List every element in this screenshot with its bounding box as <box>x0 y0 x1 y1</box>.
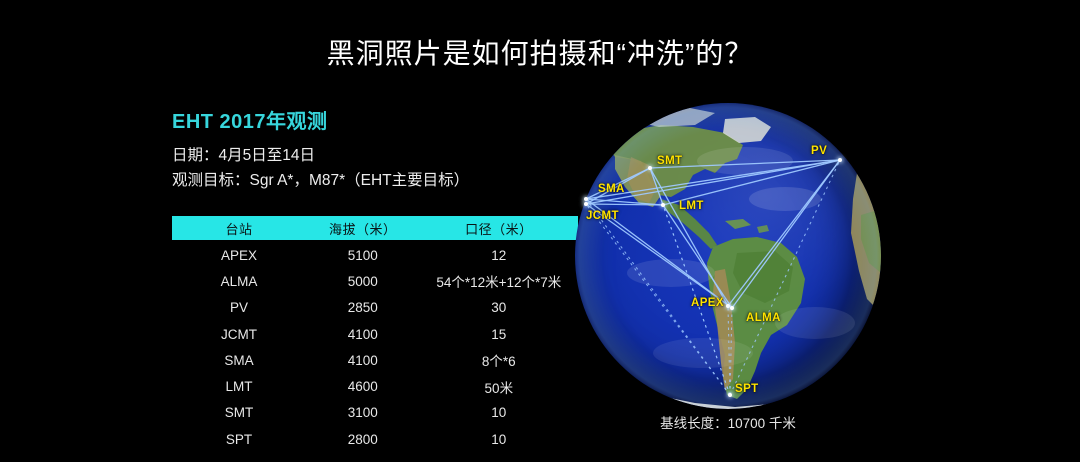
table-row: PV285030 <box>172 295 578 321</box>
station-cell: LMT <box>172 373 306 399</box>
station-marker-alma <box>730 306 734 310</box>
station-marker-smt <box>648 166 652 170</box>
station-cell: PV <box>172 295 306 321</box>
observation-info-block: EHT 2017年观测 日期：4月5日至14日 观测目标：Sgr A*，M87*… <box>172 105 602 193</box>
diameter-cell: 50米 <box>420 373 578 399</box>
station-cell: ALMA <box>172 268 306 294</box>
altitude-cell: 4100 <box>306 347 420 373</box>
altitude-cell: 4600 <box>306 373 420 399</box>
altitude-cell: 5100 <box>306 240 420 268</box>
table-row: APEX510012 <box>172 240 578 268</box>
observation-target-line: 观测目标：Sgr A*，M87*（EHT主要目标） <box>172 168 602 193</box>
globe-continents <box>575 103 881 409</box>
station-cell: SPT <box>172 426 306 452</box>
diameter-cell: 54个*12米+12个*7米 <box>420 268 578 294</box>
table-row: SPT280010 <box>172 426 578 452</box>
altitude-cell: 2850 <box>306 295 420 321</box>
column-header-diameter: 口径（米） <box>420 216 578 240</box>
station-marker-sma <box>584 197 588 201</box>
altitude-cell: 4100 <box>306 321 420 347</box>
column-header-station: 台站 <box>172 216 306 240</box>
page-title: 黑洞照片是如何拍摄和“冲洗”的？ <box>0 32 1080 72</box>
diameter-cell: 10 <box>420 426 578 452</box>
eht-heading: EHT 2017年观测 <box>172 105 602 134</box>
station-marker-spt <box>728 393 732 397</box>
table-row: ALMA500054个*12米+12个*7米 <box>172 268 578 294</box>
station-cell: SMA <box>172 347 306 373</box>
table-row: SMA41008个*6 <box>172 347 578 373</box>
earth-globe-icon <box>575 103 881 409</box>
station-marker-lmt <box>661 203 665 207</box>
table-row: JCMT410015 <box>172 321 578 347</box>
diameter-cell: 8个*6 <box>420 347 578 373</box>
station-cell: JCMT <box>172 321 306 347</box>
altitude-cell: 5000 <box>306 268 420 294</box>
diameter-cell: 12 <box>420 240 578 268</box>
diameter-cell: 10 <box>420 400 578 426</box>
observation-date-line: 日期：4月5日至14日 <box>172 143 602 168</box>
station-marker-jcmt <box>584 202 588 206</box>
table-row: LMT460050米 <box>172 373 578 399</box>
diameter-cell: 30 <box>420 295 578 321</box>
station-cell: APEX <box>172 240 306 268</box>
altitude-cell: 3100 <box>306 400 420 426</box>
table-header-row: 台站 海拔（米） 口径（米） <box>172 216 578 240</box>
station-marker-pv <box>838 158 842 162</box>
column-header-altitude: 海拔（米） <box>306 216 420 240</box>
altitude-cell: 2800 <box>306 426 420 452</box>
table-body: APEX510012ALMA500054个*12米+12个*7米PV285030… <box>172 240 578 452</box>
baseline-length-caption: 基线长度：10700 千米 <box>575 412 881 432</box>
table-row: SMT310010 <box>172 400 578 426</box>
slide-canvas: 黑洞照片是如何拍摄和“冲洗”的？ EHT 2017年观测 日期：4月5日至14日… <box>0 0 1080 462</box>
station-table: 台站 海拔（米） 口径（米） APEX510012ALMA500054个*12米… <box>172 216 578 452</box>
diameter-cell: 15 <box>420 321 578 347</box>
station-cell: SMT <box>172 400 306 426</box>
eht-globe-visualization: PVSMTSMAJCMTLMTAPEXALMASPT <box>575 103 881 409</box>
